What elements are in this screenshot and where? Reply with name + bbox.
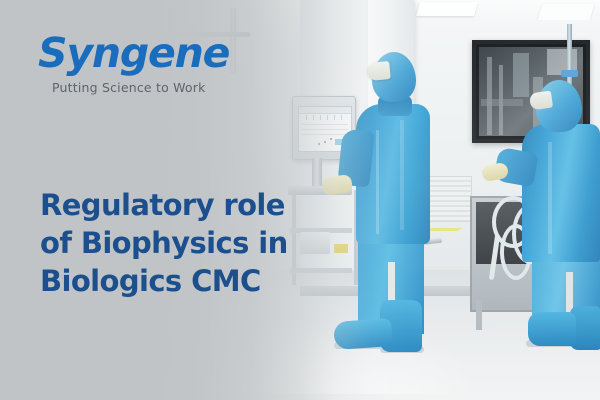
gown-fold [400, 120, 404, 230]
brand-logo: Syngene Putting Science to Work [38, 32, 298, 95]
screen-header-bar [299, 107, 351, 114]
gown-fold [376, 130, 379, 234]
shoe-cover [333, 318, 393, 350]
screen-datapoint [318, 143, 320, 145]
status-led [116, 106, 121, 111]
ceiling-light-panel [416, 2, 478, 16]
screen-tick [320, 115, 321, 120]
logo-wordmark: Syngene [38, 32, 298, 74]
headline-line-2: of Biophysics in [40, 224, 340, 262]
screen-row [302, 124, 348, 125]
syngene-promo-banner: Syngene Putting Science to Work Regulato… [0, 0, 600, 400]
shoe-cover [528, 312, 576, 346]
screen-datapoint [330, 138, 332, 140]
headline-line-1: Regulatory role [40, 186, 340, 224]
window-equipment [513, 53, 529, 97]
monitor-stand [312, 158, 322, 188]
screen-tick [341, 115, 342, 120]
screen-tick [313, 115, 314, 120]
gown-fold [548, 142, 552, 254]
floor-reflection [180, 314, 480, 394]
screen-tick [334, 115, 335, 120]
face-mask-visor [529, 91, 553, 111]
ceiling-light-panel [538, 4, 595, 20]
screen-tick [306, 115, 307, 120]
worker-gown [522, 124, 600, 262]
logo-tagline: Putting Science to Work [52, 80, 298, 95]
window-equipment [481, 99, 523, 106]
skid-leg [476, 300, 482, 330]
screen-row [302, 134, 348, 135]
screen-tick [327, 115, 328, 120]
headline-line-3: Biologics CMC [40, 262, 340, 300]
screen-datapoint [324, 141, 326, 143]
screen-row [302, 129, 348, 130]
page-title: Regulatory role of Biophysics in Biologi… [40, 186, 340, 300]
window-equipment [487, 57, 492, 135]
face-mask-visor [367, 61, 391, 81]
blue-valve [561, 70, 578, 77]
